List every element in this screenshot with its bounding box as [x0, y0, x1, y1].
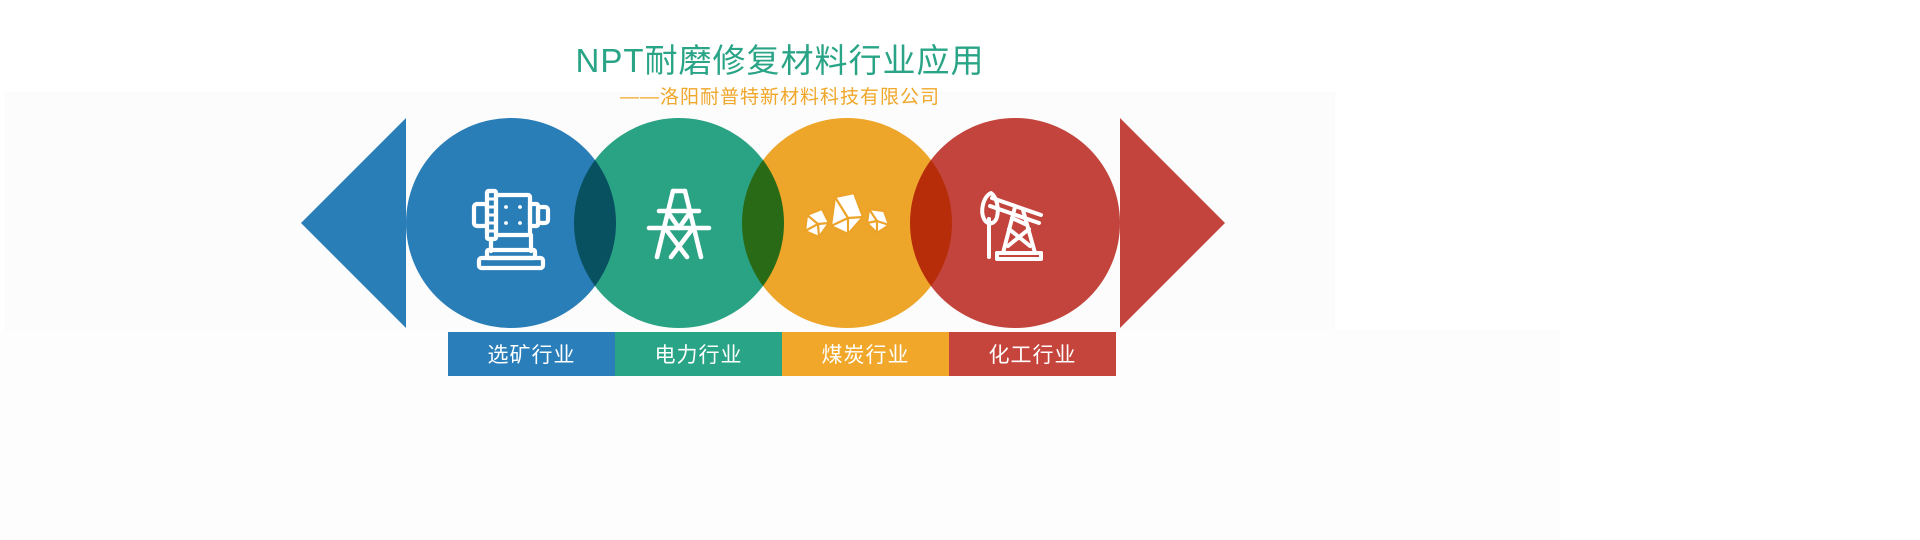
infographic-canvas: NPT耐磨修复材料行业应用 ——洛阳耐普特新材料科技有限公司 — [0, 0, 1920, 540]
page-title: NPT耐磨修复材料行业应用 — [0, 41, 1560, 81]
segment-icon-group — [406, 118, 1146, 328]
industry-label-power[interactable]: 电力行业 — [615, 332, 782, 376]
industry-label-mining[interactable]: 选矿行业 — [448, 332, 615, 376]
left-point-wedge — [301, 118, 406, 328]
page-subtitle: ——洛阳耐普特新材料科技有限公司 — [0, 85, 1560, 111]
industry-label-coal[interactable]: 煤炭行业 — [782, 332, 949, 376]
oil-pumpjack-icon — [910, 118, 1120, 328]
industry-label-bar: 选矿行业 电力行业 煤炭行业 化工行业 — [448, 332, 1116, 376]
industry-label-chemical[interactable]: 化工行业 — [949, 332, 1116, 376]
